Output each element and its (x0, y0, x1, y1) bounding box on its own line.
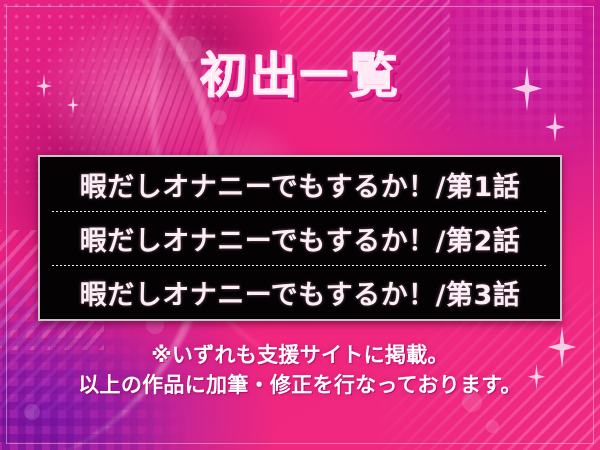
bokeh-6 (486, 420, 499, 433)
list-item-label: 暇だしオナニーでもするか！/第3話 (80, 273, 521, 312)
bokeh-4 (24, 404, 40, 420)
list-item: 暇だしオナニーでもするか！/第2話 (40, 211, 560, 265)
list-item: 暇だしオナニーでもするか！/第3話 (40, 265, 560, 319)
page-title: 初出一覧 (0, 52, 600, 100)
list-item-label: 暇だしオナニーでもするか！/第1話 (80, 165, 521, 204)
list-item-label: 暇だしオナニーでもするか！/第2話 (80, 219, 521, 258)
promo-banner: 初出一覧 暇だしオナニーでもするか！/第1話 暇だしオナニーでもするか！/第2話… (0, 0, 600, 450)
list-item: 暇だしオナニーでもするか！/第1話 (40, 157, 560, 211)
footnote-line-1: ※いずれも支援サイトに掲載。 (0, 341, 600, 371)
footnote-line-2: 以上の作品に加筆・修正を行なっております。 (0, 371, 600, 401)
footnote: ※いずれも支援サイトに掲載。 以上の作品に加筆・修正を行なっております。 (0, 341, 600, 401)
bokeh-8 (212, 110, 227, 125)
work-list-panel: 暇だしオナニーでもするか！/第1話 暇だしオナニーでもするか！/第2話 暇だしオ… (38, 155, 562, 321)
